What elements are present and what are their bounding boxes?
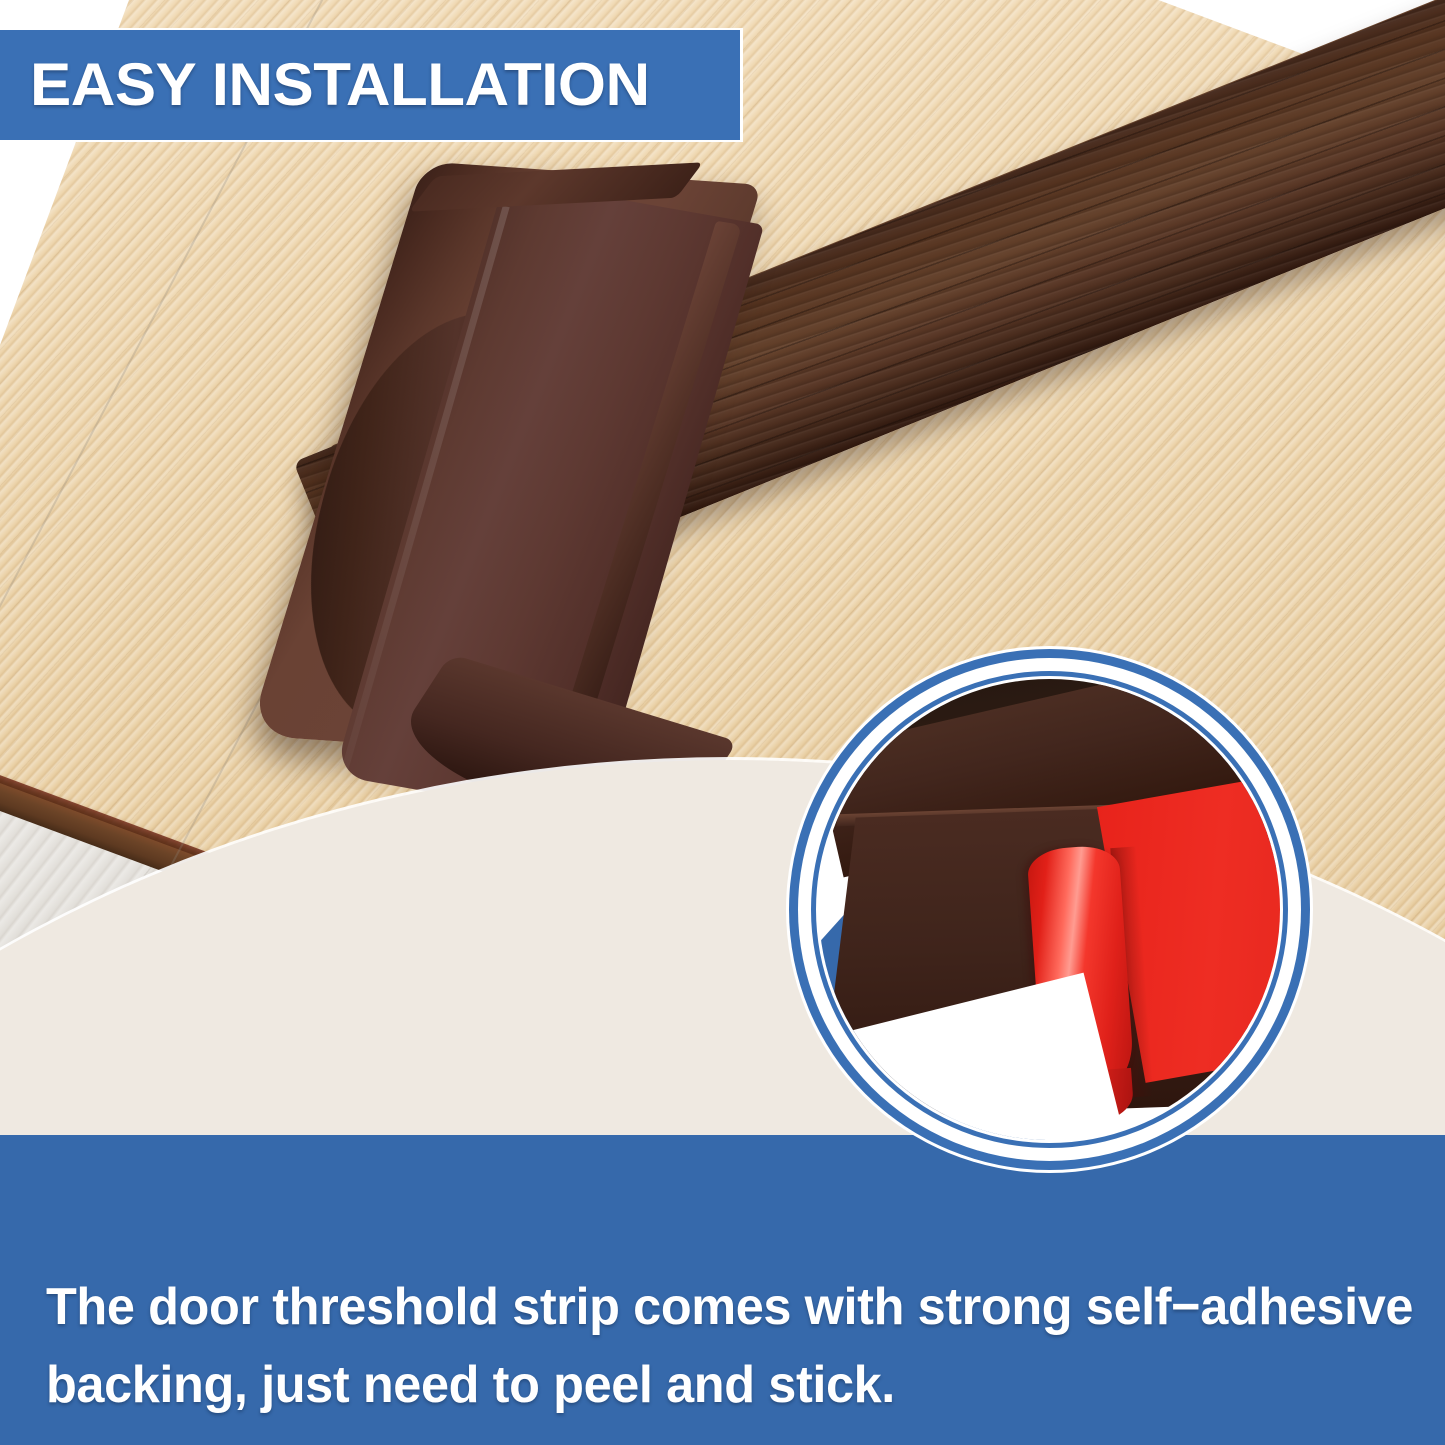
inset-photo [819, 679, 1280, 1140]
caption-text: The door threshold strip comes with stro… [46, 1268, 1346, 1424]
adhesive-closeup-inset [789, 649, 1310, 1170]
caption-line-1: The door threshold strip comes with stro… [46, 1268, 1346, 1346]
banner-title: EASY INSTALLATION [30, 55, 650, 115]
header-banner: EASY INSTALLATION [0, 28, 743, 142]
caption-line-2: backing, just need to peel and stick. [46, 1346, 1346, 1424]
product-marketing-image: EASY INSTALLATION The door threshold str… [0, 0, 1445, 1445]
